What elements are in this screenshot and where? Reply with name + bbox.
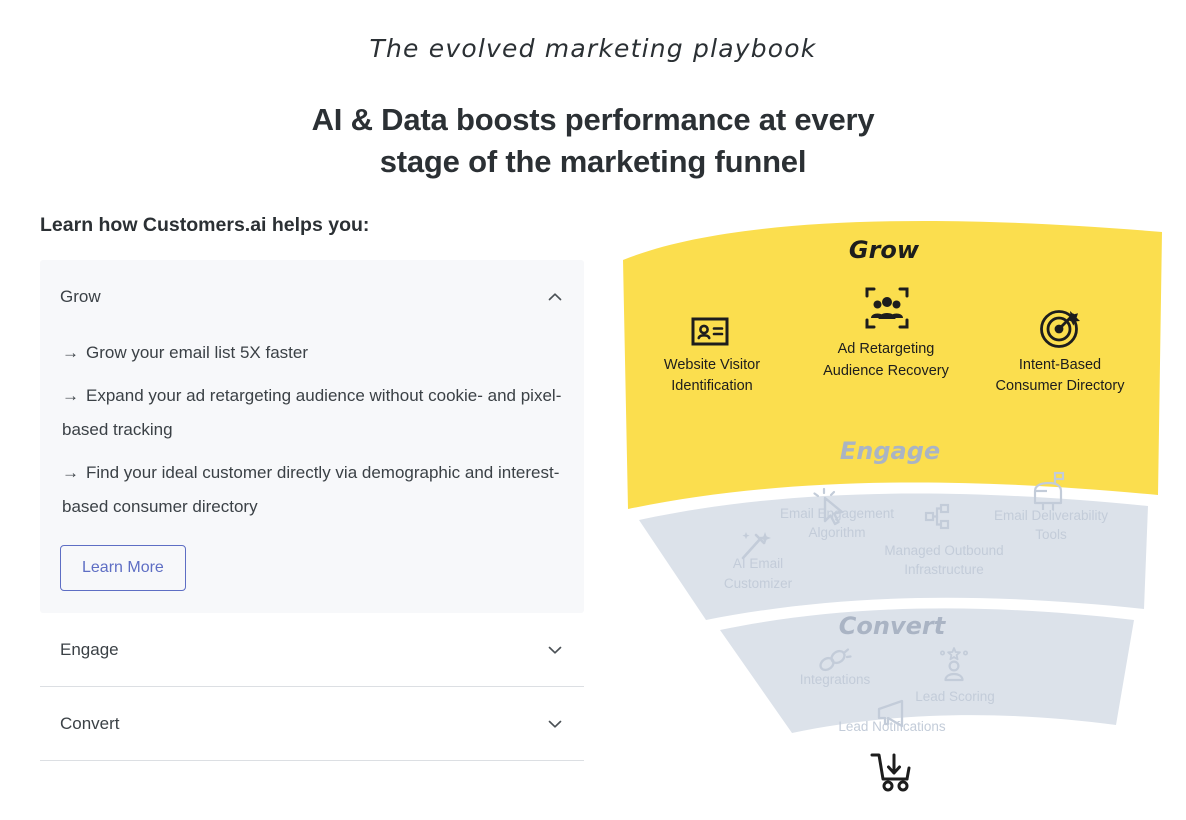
funnel-tier-grow[interactable]: Grow Website Visitor Identification <box>623 221 1162 509</box>
funnel-item-label-line1: Integrations <box>800 672 871 687</box>
funnel-tier-label-convert: Convert <box>839 612 947 640</box>
page-root: The evolved marketing playbook AI & Data… <box>0 0 1186 820</box>
accordion-label-engage: Engage <box>60 640 119 660</box>
learn-more-button[interactable]: Learn More <box>60 545 186 591</box>
list-item: →Find your ideal customer directly via d… <box>60 456 564 524</box>
funnel-item-label-line2: Audience Recovery <box>823 363 949 379</box>
funnel-item-label-lead-notifications: Lead Notifications <box>838 719 946 734</box>
accordion-item-grow[interactable]: Grow →Grow your email list 5X faster →Ex… <box>40 260 584 613</box>
page-title-line-2: stage of the marketing funnel <box>380 144 807 179</box>
accordion-label-grow: Grow <box>60 287 101 307</box>
accordion-body-grow: →Grow your email list 5X faster →Expand … <box>60 334 564 591</box>
funnel-item-label-line2: Tools <box>1035 527 1067 542</box>
accordion-label-convert: Convert <box>60 714 120 734</box>
list-item-text: Grow your email list 5X faster <box>86 343 308 362</box>
funnel-item-label-line1: Intent-Based <box>1019 357 1101 373</box>
chevron-down-icon[interactable] <box>546 715 564 733</box>
chevron-up-icon[interactable] <box>546 288 564 306</box>
accordion-header-grow[interactable]: Grow <box>60 260 564 334</box>
arrow-marker-icon: → <box>62 343 79 362</box>
lead-in-text: Learn how Customers.ai helps you: <box>40 214 369 237</box>
funnel-item-label-line1: Email Deliverability <box>994 508 1108 523</box>
funnel-item-label-line2: Identification <box>671 378 752 394</box>
funnel-item-label-line1: Lead Scoring <box>915 689 995 704</box>
add-to-cart-icon <box>872 755 909 790</box>
arrow-marker-icon: → <box>62 463 79 482</box>
funnel-item-label-line2: Customizer <box>724 576 793 591</box>
accordion-header-engage[interactable]: Engage <box>60 613 564 686</box>
list-item-text: Expand your ad retargeting audience with… <box>62 386 561 439</box>
funnel-item-label-line1: Email Engagement <box>780 506 894 521</box>
accordion-header-convert[interactable]: Convert <box>60 687 564 760</box>
list-item-text: Find your ideal customer directly via de… <box>62 463 559 516</box>
funnel-item-label-line1: AI Email <box>733 556 783 571</box>
funnel-item-label-line2: Consumer Directory <box>996 378 1126 394</box>
funnel-tier-label-grow: Grow <box>849 236 920 264</box>
page-title-line-1: AI & Data boosts performance at every <box>312 102 875 137</box>
funnel-item-label-line1: Managed Outbound <box>884 543 1003 558</box>
accordion-item-engage[interactable]: Engage <box>40 613 584 687</box>
funnel-item-label-line2: Infrastructure <box>904 562 984 577</box>
page-title: AI & Data boosts performance at every st… <box>243 99 943 183</box>
funnel-tier-label-engage: Engage <box>840 437 940 465</box>
arrow-marker-icon: → <box>62 386 79 405</box>
accordion: Grow →Grow your email list 5X faster →Ex… <box>40 260 584 761</box>
funnel-tier-convert[interactable]: Convert Integrations <box>720 608 1134 734</box>
funnel-item-label-line1: Ad Retargeting <box>838 341 935 357</box>
eyebrow-text: The evolved marketing playbook <box>0 34 1186 63</box>
list-item: →Grow your email list 5X faster <box>60 336 564 370</box>
chevron-down-icon[interactable] <box>546 641 564 659</box>
funnel-item-label-line1: Website Visitor <box>664 357 760 373</box>
accordion-item-convert[interactable]: Convert <box>40 687 584 761</box>
funnel-item-label-line2: Algorithm <box>808 525 865 540</box>
list-item: →Expand your ad retargeting audience wit… <box>60 379 564 447</box>
marketing-funnel-diagram: Grow Website Visitor Identification <box>596 212 1186 812</box>
